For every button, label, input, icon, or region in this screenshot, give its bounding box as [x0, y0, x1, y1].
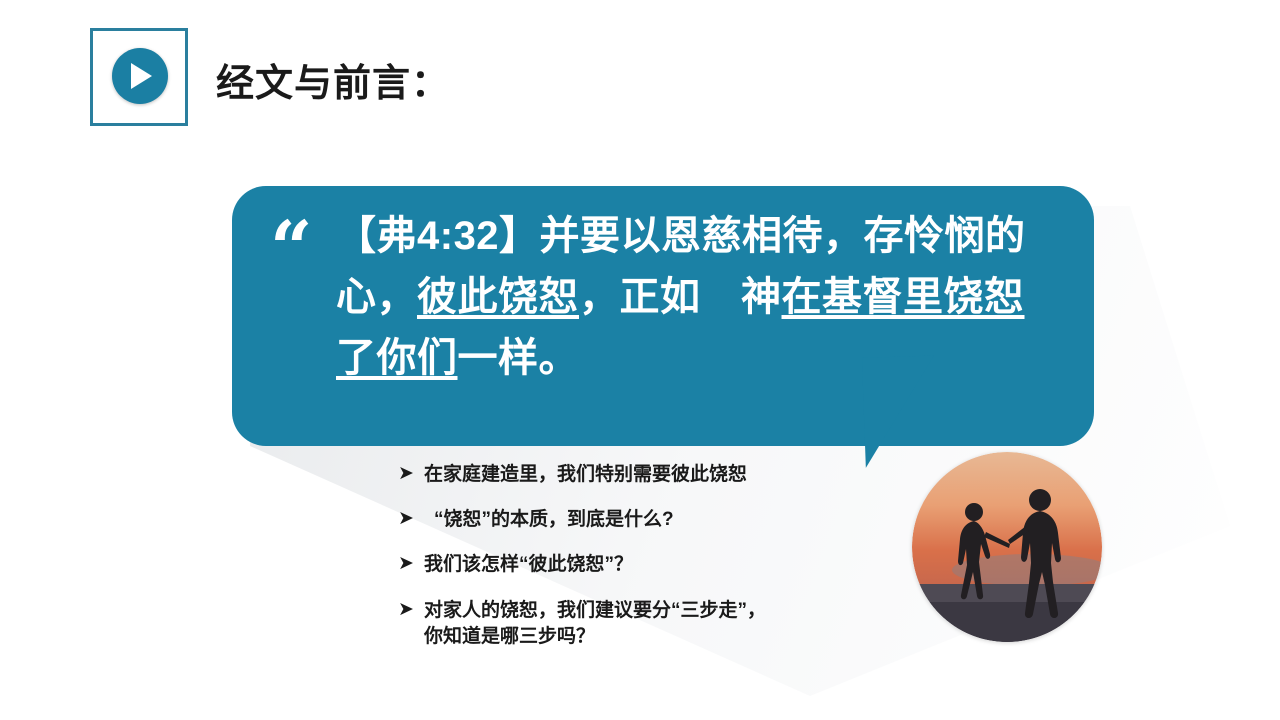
quote-line-2c: ，正如 神 [579, 275, 782, 319]
couple-holding-hands-sunset-photo [912, 452, 1102, 642]
list-item-label: “饶恕”的本质，到底是什么? [424, 507, 918, 533]
arrow-bullet-icon: ➤ [398, 598, 424, 623]
list-item-label: 对家人的饶恕，我们建议要分“三步走”， 你知道是哪三步吗？ [424, 598, 918, 650]
bullet-list: ➤ 在家庭建造里，我们特别需要彼此饶恕 ➤ “饶恕”的本质，到底是什么? ➤ 我… [398, 462, 918, 669]
quote-text: 【弗4:32】并要以恩慈相待，存怜悯的心，彼此饶恕，正如 神在基督里饶恕了你们一… [336, 206, 1036, 388]
arrow-bullet-icon: ➤ [398, 462, 424, 487]
list-item: ➤ 对家人的饶恕，我们建议要分“三步走”， 你知道是哪三步吗？ [398, 598, 918, 650]
list-item: ➤ “饶恕”的本质，到底是什么? [398, 507, 918, 533]
list-item-label: 在家庭建造里，我们特别需要彼此饶恕 [424, 462, 918, 488]
arrow-bullet-icon: ➤ [398, 552, 424, 577]
quote-line-1: 【弗4:32】并要以恩慈相待，存 [336, 214, 904, 258]
list-item-label: 我们该怎样“彼此饶恕”？ [424, 552, 918, 578]
list-item: ➤ 在家庭建造里，我们特别需要彼此饶恕 [398, 462, 918, 488]
arrow-bullet-icon: ➤ [398, 507, 424, 532]
list-item: ➤ 我们该怎样“彼此饶恕”？ [398, 552, 918, 578]
quote-line-2b-underlined: 彼此饶恕 [417, 275, 579, 319]
list-item-line-2: 你知道是哪三步吗？ [424, 626, 595, 647]
slide-header: 经文与前言： [0, 0, 1280, 140]
quote-line-3b: 一样。 [458, 336, 580, 380]
play-triangle-icon [131, 63, 152, 89]
page-title: 经文与前言： [216, 52, 450, 107]
quote-mark-icon: “ [270, 212, 313, 286]
list-item-line-1: 对家人的饶恕，我们建议要分“三步走”， [424, 600, 766, 621]
